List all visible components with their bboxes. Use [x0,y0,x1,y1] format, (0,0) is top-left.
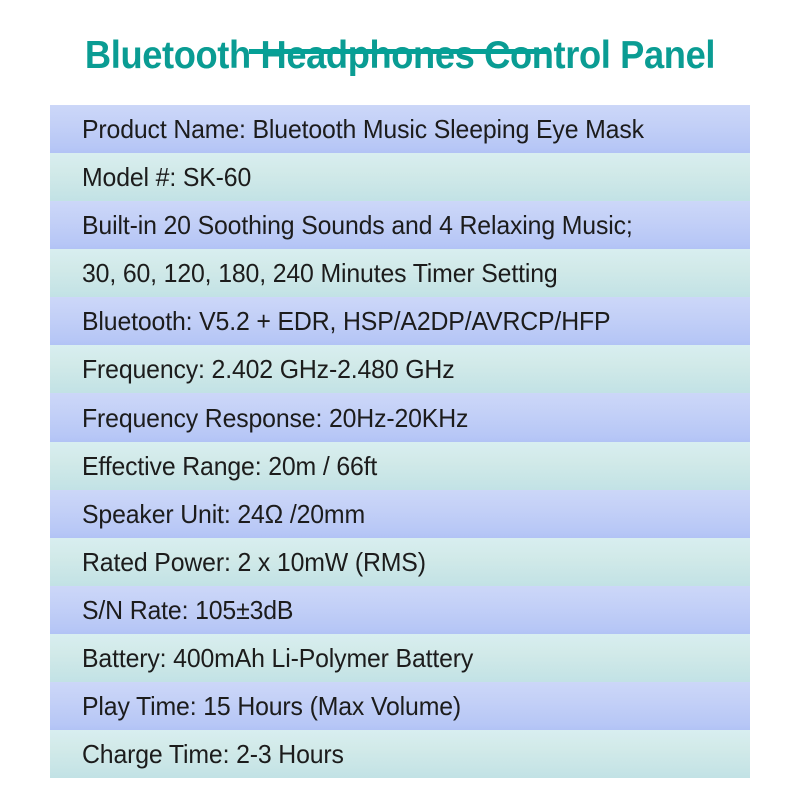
spec-row-text: Product Name: Bluetooth Music Sleeping E… [82,114,644,144]
spec-row: Charge Time: 2-3 Hours [50,730,750,778]
spec-row: S/N Rate: 105±3dB [50,586,750,634]
spec-row-text: Play Time: 15 Hours (Max Volume) [82,691,461,721]
spec-row: Product Name: Bluetooth Music Sleeping E… [50,105,750,153]
spec-row-text: Speaker Unit: 24Ω /20mm [82,499,365,529]
specifications-table: Product Name: Bluetooth Music Sleeping E… [50,105,750,778]
spec-row-text: 30, 60, 120, 180, 240 Minutes Timer Sett… [82,258,558,288]
bluetooth-headphones-control-panel: Bluetooth Headphones Control Panel Produ… [0,0,800,800]
spec-row-text: Model #: SK-60 [82,162,251,192]
spec-row: Play Time: 15 Hours (Max Volume) [50,682,750,730]
spec-row: Built-in 20 Soothing Sounds and 4 Relaxi… [50,201,750,249]
spec-row-text: Charge Time: 2-3 Hours [82,739,344,769]
spec-row-text: Built-in 20 Soothing Sounds and 4 Relaxi… [82,210,633,240]
spec-row-text: Battery: 400mAh Li-Polymer Battery [82,643,473,673]
spec-row: Bluetooth: V5.2 + EDR, HSP/A2DP/AVRCP/HF… [50,297,750,345]
spec-row: Rated Power: 2 x 10mW (RMS) [50,538,750,586]
spec-row: Speaker Unit: 24Ω /20mm [50,490,750,538]
page-title: Bluetooth Headphones Control Panel [28,34,772,78]
spec-row: Model #: SK-60 [50,153,750,201]
spec-row: Effective Range: 20m / 66ft [50,442,750,490]
spec-row: Battery: 400mAh Li-Polymer Battery [50,634,750,682]
spec-row-text: Bluetooth: V5.2 + EDR, HSP/A2DP/AVRCP/HF… [82,306,610,336]
panel-header: Bluetooth Headphones Control Panel [0,34,800,78]
spec-row: Frequency Response: 20Hz-20KHz [50,393,750,441]
spec-row-text: Effective Range: 20m / 66ft [82,451,377,481]
spec-row: Frequency: 2.402 GHz-2.480 GHz [50,345,750,393]
spec-row: 30, 60, 120, 180, 240 Minutes Timer Sett… [50,249,750,297]
spec-row-text: Frequency Response: 20Hz-20KHz [82,403,468,433]
spec-row-text: Frequency: 2.402 GHz-2.480 GHz [82,354,454,384]
title-underline-rule [249,49,549,54]
spec-row-text: S/N Rate: 105±3dB [82,595,293,625]
spec-row-text: Rated Power: 2 x 10mW (RMS) [82,547,426,577]
